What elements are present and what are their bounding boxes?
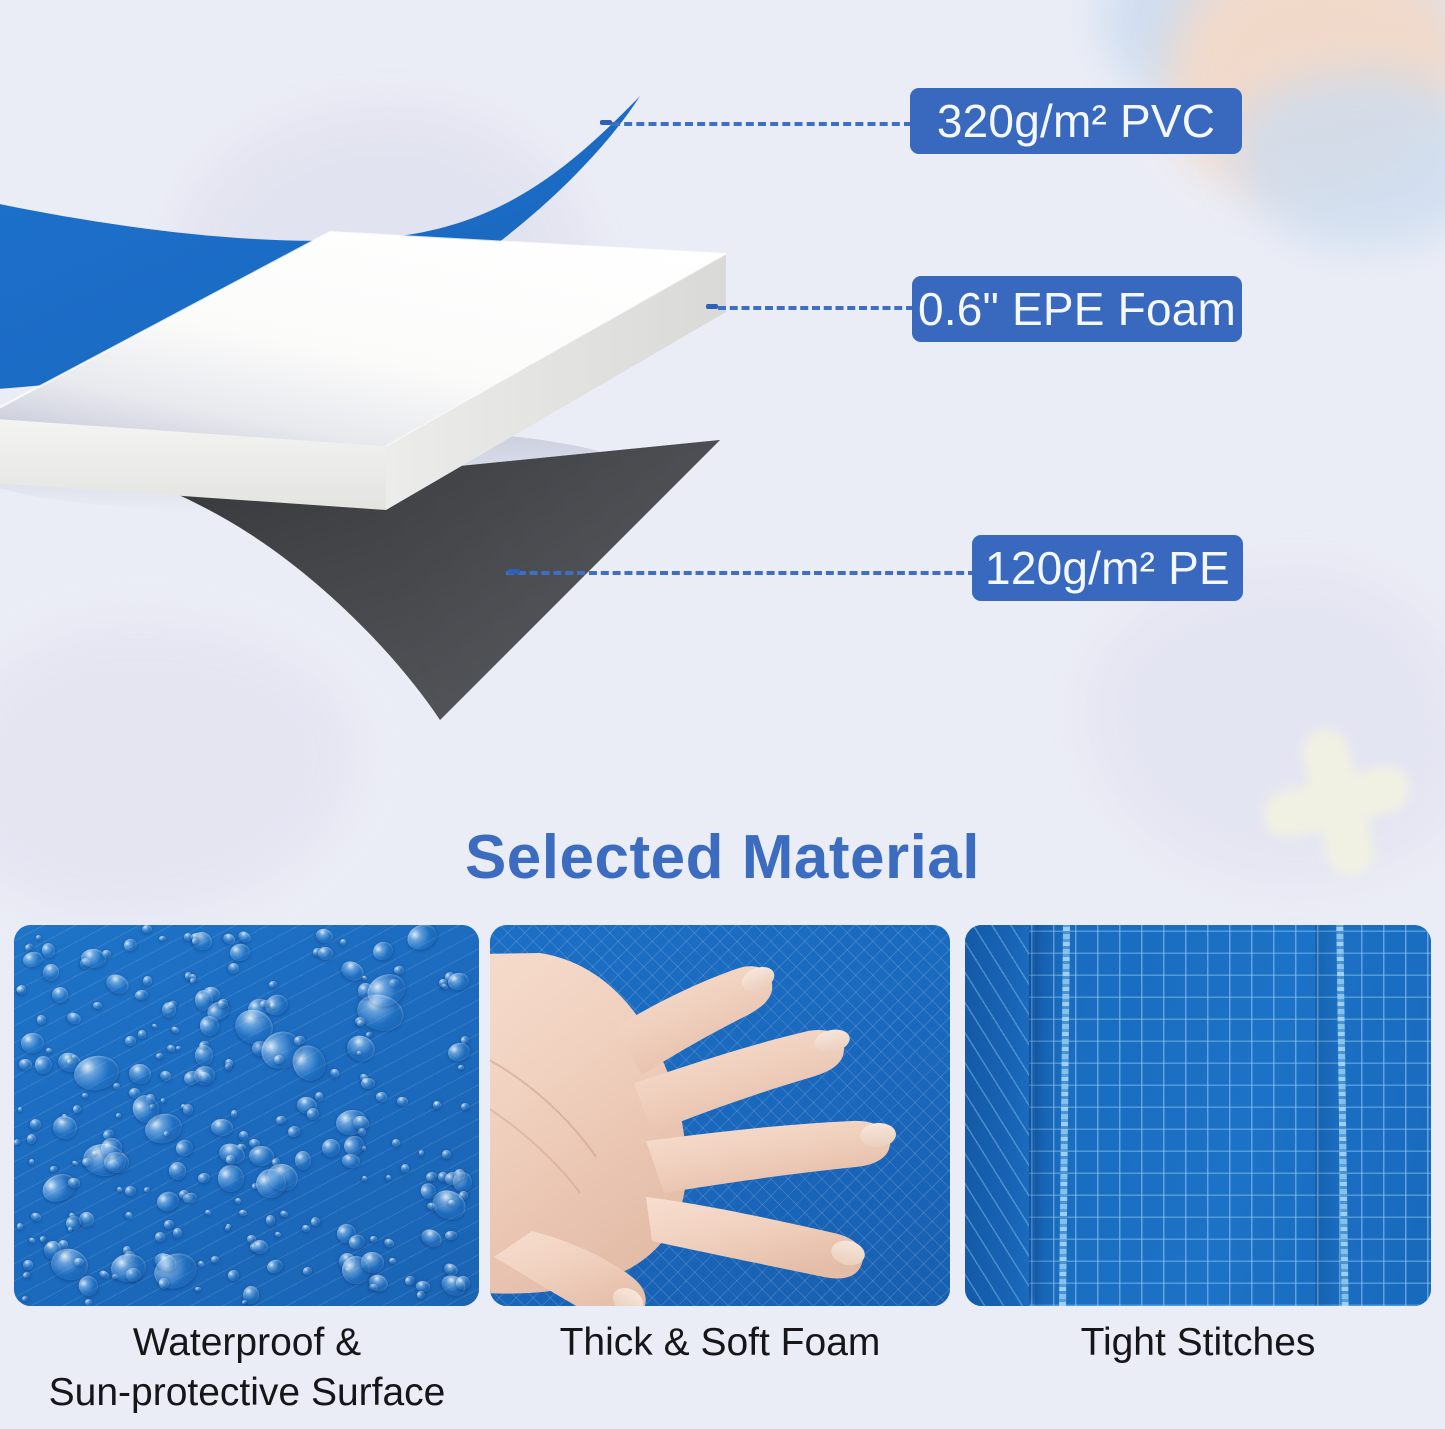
- leader-line-pvc: [612, 122, 912, 126]
- water-droplet: [143, 976, 152, 986]
- water-droplets-photo: [14, 925, 479, 1306]
- leader-line-pe: [506, 571, 976, 575]
- water-droplet: [361, 1078, 375, 1089]
- caption-waterproof-line2: Sun-protective Surface: [0, 1368, 494, 1418]
- water-droplet: [181, 1104, 186, 1109]
- hand-illustration: [490, 935, 950, 1306]
- callout-badge-foam: 0.6" EPE Foam: [912, 276, 1242, 342]
- feature-card-foam: [490, 925, 950, 1306]
- water-droplet: [276, 1115, 286, 1124]
- caption-foam: Thick & Soft Foam: [489, 1318, 951, 1368]
- caption-stitches-line1: Tight Stitches: [1081, 1321, 1316, 1364]
- water-droplet: [268, 980, 277, 988]
- water-droplet: [357, 1051, 361, 1055]
- water-droplet: [445, 1231, 457, 1240]
- fabric-fold-edge: [965, 925, 1029, 1306]
- water-droplet: [400, 1163, 409, 1173]
- water-droplet: [92, 1150, 98, 1155]
- water-droplet: [172, 1227, 182, 1237]
- caption-foam-line1: Thick & Soft Foam: [560, 1321, 881, 1364]
- water-droplet: [168, 1161, 186, 1179]
- water-droplet: [125, 1036, 136, 1046]
- water-droplet: [29, 1118, 41, 1130]
- leader-line-foam: [718, 306, 914, 310]
- feature-card-stitches: [965, 925, 1431, 1306]
- caption-stitches: Tight Stitches: [963, 1318, 1433, 1368]
- callout-badge-pe: 120g/m² PE: [972, 535, 1243, 601]
- section-heading: Selected Material: [0, 822, 1445, 893]
- material-layers-illustration: [0, 0, 960, 730]
- caption-waterproof: Waterproof & Sun-protective Surface: [0, 1318, 494, 1418]
- feature-cards: [0, 925, 1445, 1309]
- infographic-stage: 320g/m² PVC 0.6" EPE Foam 120g/m² PE Sel…: [0, 0, 1445, 1429]
- water-droplet: [17, 984, 26, 994]
- light-blue-blob-right: [1230, 70, 1445, 250]
- callout-badge-pvc: 320g/m² PVC: [910, 88, 1242, 154]
- hand-on-foam-photo: [490, 925, 950, 1306]
- water-droplet: [442, 1149, 451, 1158]
- blue-tarp-surface: [14, 925, 479, 1306]
- caption-waterproof-line1: Waterproof &: [133, 1321, 361, 1364]
- leader-dot-foam: [706, 304, 718, 309]
- leader-dot-pe: [508, 569, 520, 574]
- feature-card-waterproof: [14, 925, 479, 1306]
- stitch-seam-photo: [965, 925, 1431, 1306]
- water-droplet: [93, 1002, 102, 1010]
- leader-dot-pvc: [600, 120, 612, 125]
- water-droplet: [247, 1235, 256, 1243]
- water-droplet: [321, 1138, 340, 1157]
- feature-captions: Waterproof & Sun-protective Surface Thic…: [0, 1318, 1445, 1429]
- seam-shadow-left: [1035, 925, 1061, 1306]
- water-droplet: [82, 1093, 88, 1098]
